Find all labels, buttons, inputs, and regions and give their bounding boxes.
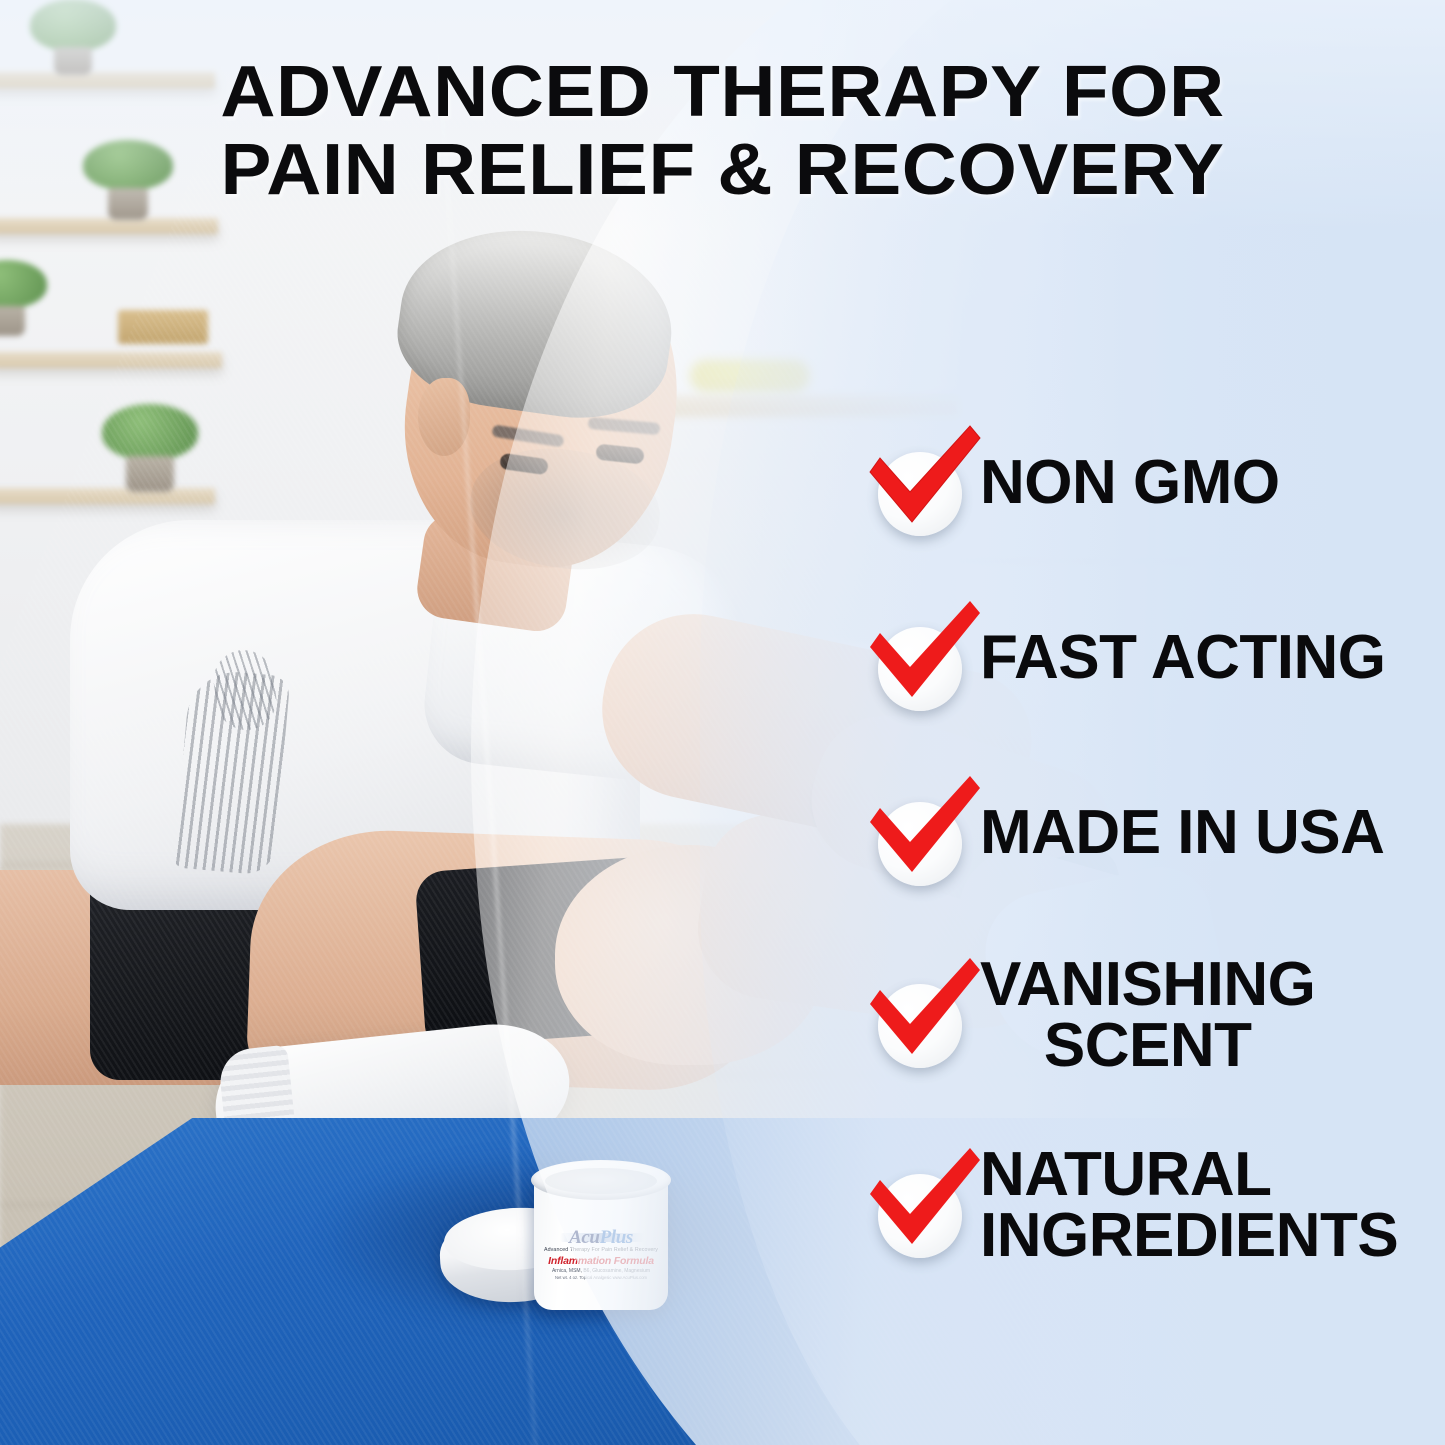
red-checkmark-icon — [866, 956, 984, 1068]
benefit-label: VANISHING SCENT — [980, 955, 1315, 1077]
product-infographic: AcuPlus Advanced Therapy For Pain Relief… — [0, 0, 1445, 1445]
benefit-item-made-in-usa: MADE IN USA — [866, 746, 1444, 921]
benefits-list: NON GMO FAST ACTING MADE IN US — [866, 396, 1444, 1301]
check-badge — [866, 962, 974, 1070]
check-badge — [866, 605, 974, 713]
benefit-label-text: NON GMO — [980, 448, 1280, 517]
benefit-item-fast-acting: FAST ACTING — [866, 571, 1444, 746]
benefit-label-text-line2: SCENT — [980, 1016, 1315, 1077]
benefit-label: NATURAL INGREDIENTS — [980, 1145, 1398, 1267]
red-checkmark-icon — [866, 599, 984, 711]
benefit-label-text-line2: INGREDIENTS — [980, 1206, 1398, 1267]
red-checkmark-icon — [866, 774, 984, 886]
benefit-item-vanishing-scent: VANISHING SCENT — [866, 921, 1444, 1111]
benefit-label-text: MADE IN USA — [980, 798, 1384, 867]
check-badge — [866, 430, 974, 538]
check-badge — [866, 1152, 974, 1260]
red-checkmark-icon — [866, 1146, 984, 1258]
benefit-label-text: NATURAL — [980, 1140, 1272, 1209]
benefit-label-text: FAST ACTING — [980, 623, 1386, 692]
benefit-label: NON GMO — [980, 453, 1280, 514]
check-badge — [866, 780, 974, 888]
benefit-item-natural-ingredients: NATURAL INGREDIENTS — [866, 1111, 1444, 1301]
benefit-label: MADE IN USA — [980, 803, 1384, 864]
benefit-item-non-gmo: NON GMO — [866, 396, 1444, 571]
benefit-label-text: VANISHING — [980, 950, 1315, 1019]
benefit-label: FAST ACTING — [980, 628, 1386, 689]
red-checkmark-icon — [866, 424, 984, 536]
top-wash — [0, 0, 1445, 230]
